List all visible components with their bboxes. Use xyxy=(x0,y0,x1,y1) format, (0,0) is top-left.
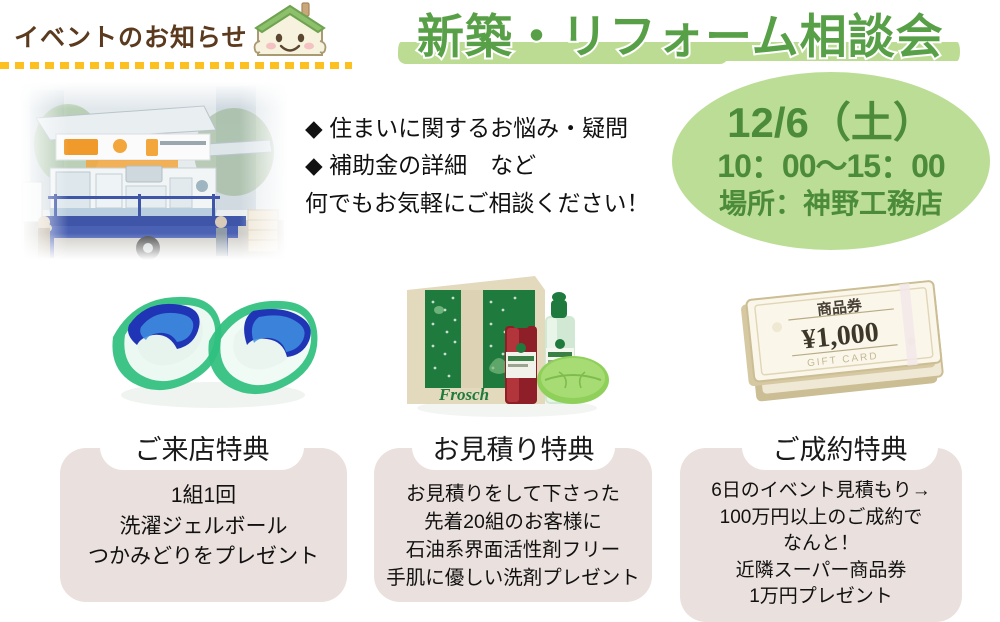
benefit-3-line-4: 近隣スーパー商品券 xyxy=(680,558,962,585)
frosch-brand-text: Frosch xyxy=(438,385,489,404)
benefit-2-line-3: 石油系界面活性剤フリー xyxy=(374,537,652,565)
benefit-2-line-1: お見積りをして下さった xyxy=(374,481,652,509)
benefit-2-line-4: 手肌に優しい洗剤プレゼント xyxy=(374,565,652,593)
benefit-body-3: 6日のイベント見積もり→ 100万円以上のご成約で なんと！ 近隣スーパー商品券… xyxy=(680,478,962,611)
event-date: 12/6（土） xyxy=(727,101,935,145)
benefit-3-line-3: なんと！ xyxy=(680,531,962,558)
page-title: 新築・リフォーム相談会 xyxy=(417,0,944,67)
flyer-canvas: イベントのお知らせ 新築・リフォーム相談会 xyxy=(0,0,1000,622)
benefit-2-line-2: 先着20組のお客様に xyxy=(374,509,652,537)
intro-copy: ◆ 住まいに関するお悩み・疑問 ◆ 補助金の詳細 など 何でもお気軽にご相談くだ… xyxy=(305,110,655,222)
intro-line-2: ◆ 補助金の詳細 など xyxy=(305,147,655,184)
benefit-3-line-2: 100万円以上のご成約で xyxy=(680,505,962,532)
benefit-title-2: お見積り特典 xyxy=(412,424,615,470)
event-time: 10：00〜15：00 xyxy=(717,146,944,186)
event-place: 場所：神野工務店 xyxy=(719,186,943,221)
benefit-body-2: お見積りをして下さった 先着20組のお客様に 石油系界面活性剤フリー 手肌に優し… xyxy=(374,481,652,593)
benefit-3-line-1: 6日のイベント見積もり→ xyxy=(680,478,962,505)
mobile-showroom-truck-photo xyxy=(20,82,288,260)
house-mascot-icon xyxy=(252,1,328,63)
frosch-detergent-gift-box-photo: Frosch xyxy=(395,268,615,418)
benefit-1-line-1: 1組1回 xyxy=(60,481,347,512)
event-notice-label: イベントのお知らせ xyxy=(14,18,248,54)
benefit-1-line-3: つかみどりをプレゼント xyxy=(60,542,347,573)
intro-line-1: ◆ 住まいに関するお悩み・疑問 xyxy=(305,110,655,147)
benefit-body-1: 1組1回 洗濯ジェルボール つかみどりをプレゼント xyxy=(60,481,347,573)
dashed-divider-icon xyxy=(0,62,352,69)
laundry-gel-pods-photo xyxy=(95,273,335,413)
gift-certificate-photo: 商品券 ¥1,000 GIFT CARD xyxy=(735,272,960,412)
benefit-3-line-5: 1万円プレゼント xyxy=(680,584,962,611)
benefit-title-3: ご成約特典 xyxy=(742,424,938,470)
intro-line-3: 何でもお気軽にご相談ください！ xyxy=(305,185,655,222)
benefit-1-line-2: 洗濯ジェルボール xyxy=(60,512,347,543)
event-date-badge: 12/6（土） 10：00〜15：00 場所：神野工務店 xyxy=(672,72,990,250)
benefit-title-1: ご来店特典 xyxy=(100,424,304,470)
